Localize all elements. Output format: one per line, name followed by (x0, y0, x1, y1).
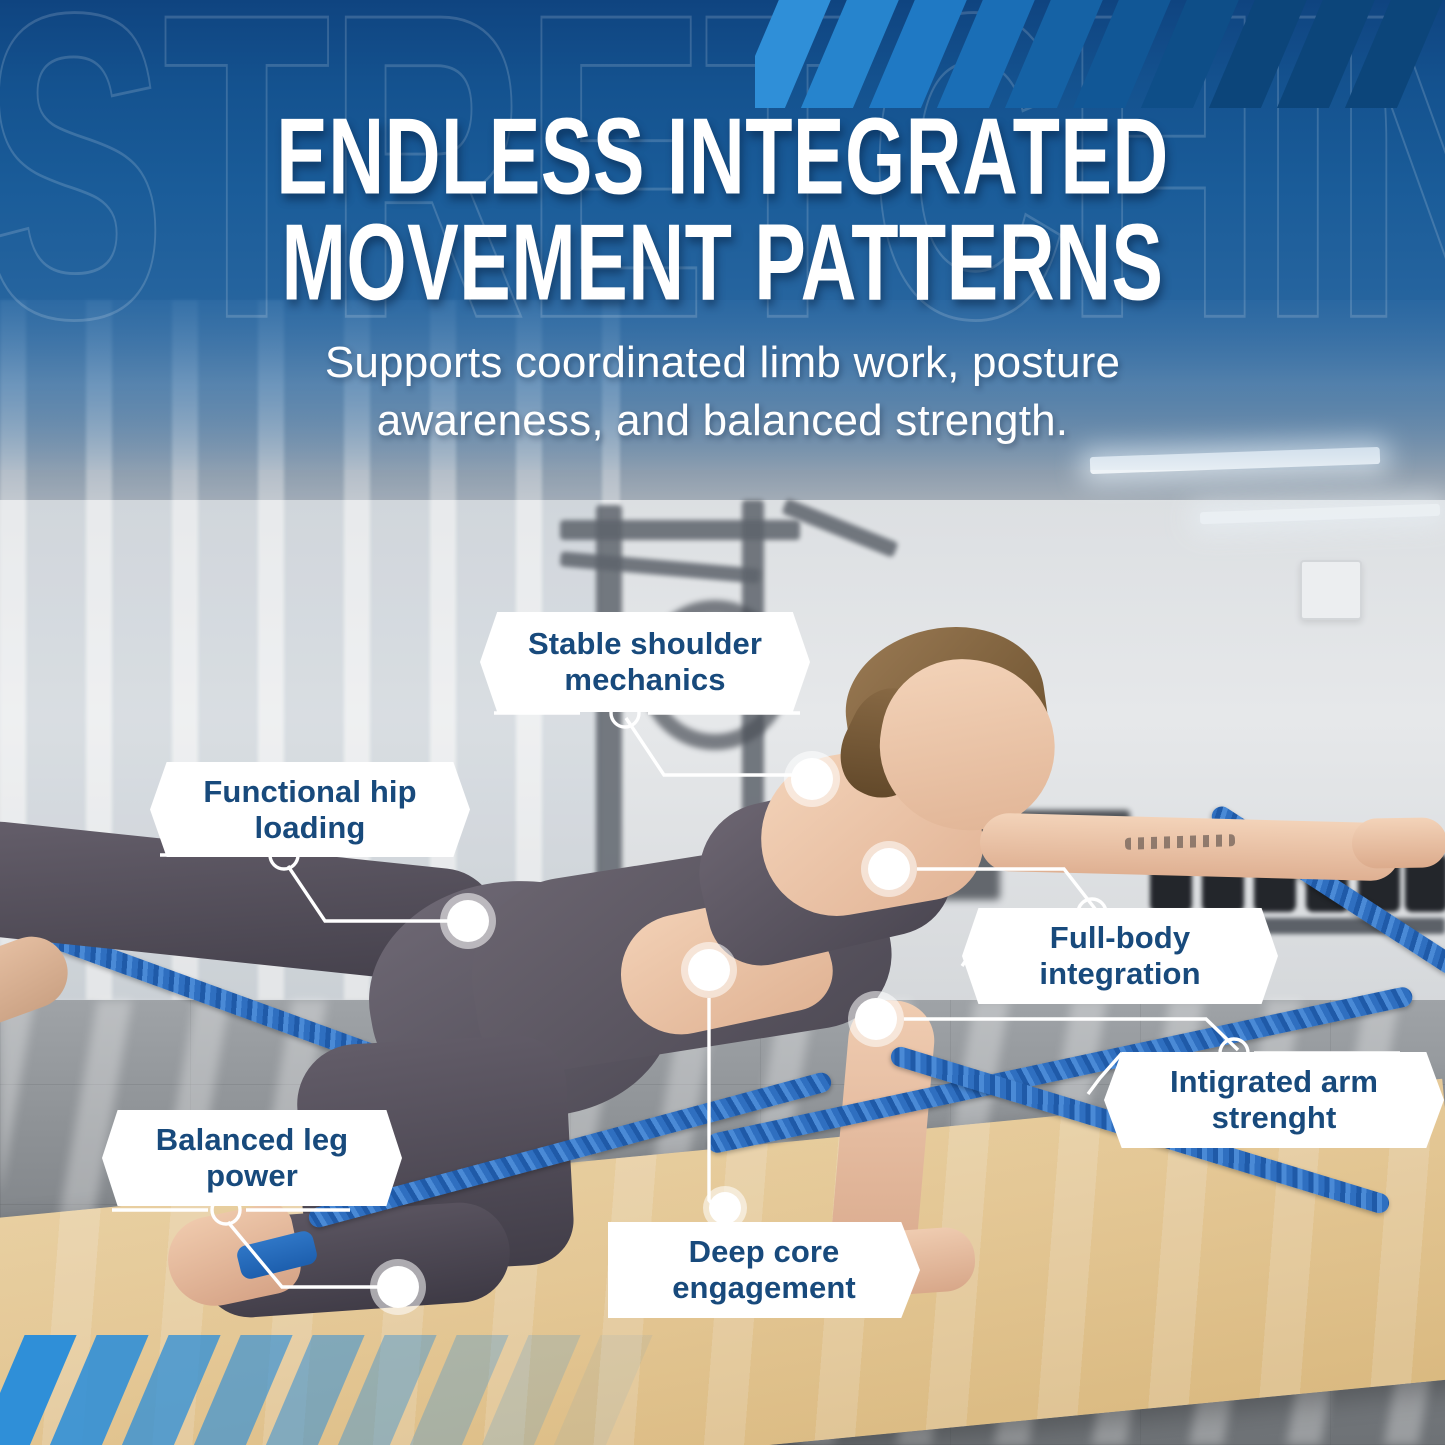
title-line-1: ENDLESS INTEGRATED (72, 104, 1373, 210)
callout-label-line1: Functional hip (203, 774, 416, 810)
callout-label-line2: mechanics (528, 662, 762, 698)
callout-label-line1: Intigrated arm (1170, 1064, 1378, 1100)
wall-panel (1300, 560, 1362, 620)
callout-label-line1: Deep core (672, 1234, 856, 1270)
callout-deep-core-engagement[interactable]: Deep core engagement (608, 1222, 920, 1318)
callout-label-line1: Full-body (1039, 920, 1200, 956)
callout-functional-hip-loading[interactable]: Functional hip loading (150, 762, 470, 857)
callout-label-line2: power (156, 1158, 348, 1194)
callout-stable-shoulder-mechanics[interactable]: Stable shoulder mechanics (480, 612, 810, 712)
athlete-extended-hand (1352, 817, 1445, 869)
infographic-poster: STRETCHING ENDLESS INTEGRATED MOVEMENT P… (0, 0, 1445, 1445)
callout-balanced-leg-power[interactable]: Balanced leg power (102, 1110, 402, 1206)
subtitle-line-2: awareness, and balanced strength. (223, 392, 1223, 450)
subtitle-line-1: Supports coordinated limb work, posture (223, 334, 1223, 392)
callout-label-line1: Stable shoulder (528, 626, 762, 662)
callout-label-line2: engagement (672, 1270, 856, 1306)
callout-label-line2: loading (203, 810, 416, 846)
callout-label-line2: integration (1039, 956, 1200, 992)
page-title: ENDLESS INTEGRATED MOVEMENT PATTERNS (72, 104, 1373, 316)
gym-rig-beam-1 (560, 520, 800, 540)
callout-label-line1: Balanced leg (156, 1122, 348, 1158)
diagonal-stripes-top-right (755, 0, 1445, 108)
callout-intigrated-arm-strenght[interactable]: Intigrated arm strenght (1104, 1052, 1444, 1148)
callout-label-line2: strenght (1170, 1100, 1378, 1136)
page-subtitle: Supports coordinated limb work, posture … (223, 334, 1223, 450)
title-line-2: MOVEMENT PATTERNS (72, 210, 1373, 316)
callout-full-body-integration[interactable]: Full-body integration (962, 908, 1278, 1004)
